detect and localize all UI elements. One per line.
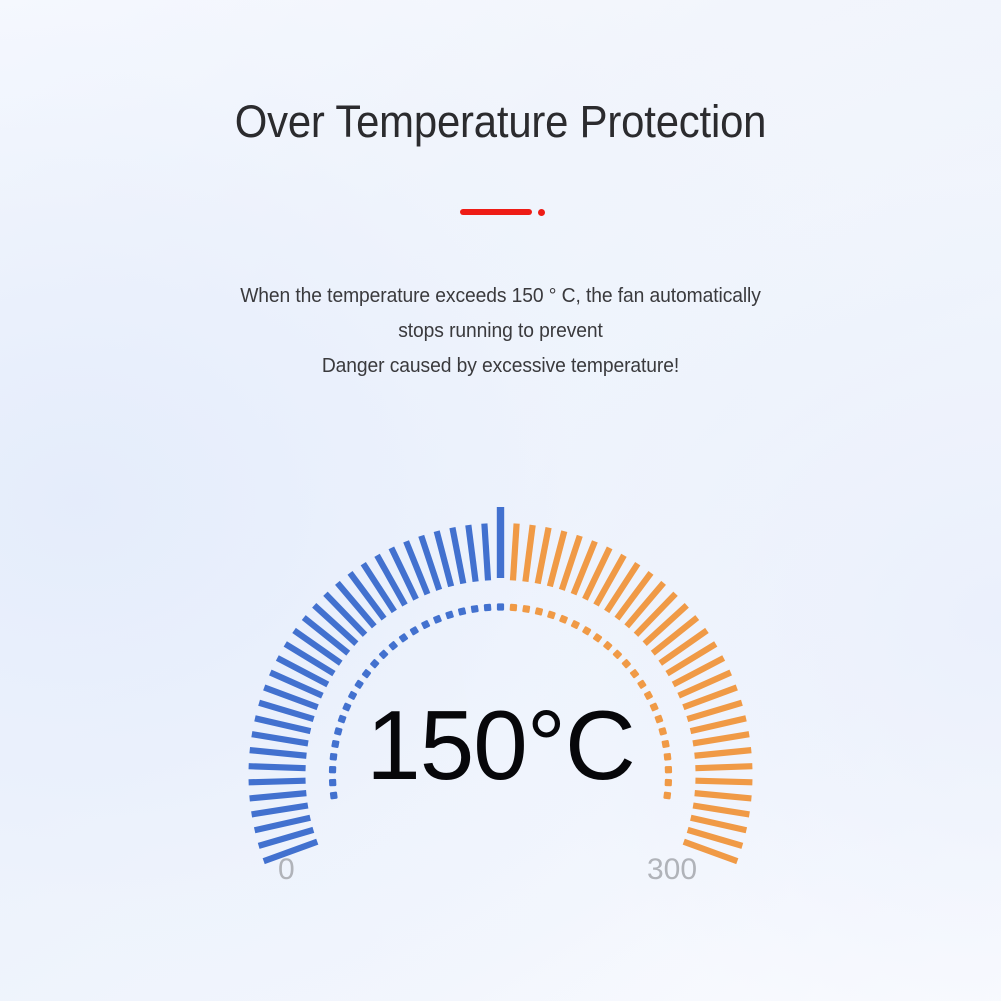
gauge-inner-dot-cold — [388, 641, 398, 651]
gauge-tick-cold — [484, 524, 488, 581]
temperature-gauge: 150°C 0 300 — [0, 400, 1001, 1001]
gauge-tick-hot — [627, 583, 664, 626]
gauge-inner-dot-hot — [637, 679, 647, 689]
gauge-inner-dot-hot — [592, 633, 602, 643]
gauge-tick-cold — [468, 525, 475, 582]
page-title: Over Temperature Protection — [35, 0, 966, 145]
description-line-3: Danger caused by excessive temperature! — [30, 348, 971, 383]
gauge-tick-hot — [645, 605, 687, 643]
gauge-tick-cold — [363, 564, 394, 612]
gauge-tick-cold — [304, 618, 349, 654]
gauge-inner-dot-hot — [582, 626, 592, 636]
gauge-inner-dot-cold — [398, 633, 408, 643]
gauge-inner-dot-cold — [445, 610, 454, 619]
description-block: When the temperature exceeds 150 ° C, th… — [0, 278, 1001, 383]
gauge-tick-cold — [252, 806, 308, 815]
divider-bar-icon — [460, 209, 532, 215]
gauge-tick-hot — [691, 818, 747, 831]
header: Over Temperature Protection — [0, 0, 1001, 145]
gauge-inner-dot-hot — [522, 605, 530, 613]
gauge-inner-dot-cold — [354, 679, 364, 689]
gauge-inner-dot-hot — [547, 610, 556, 619]
gauge-readout: 150°C — [0, 696, 1001, 794]
gauge-tick-cold — [314, 605, 356, 643]
gauge-inner-dot-cold — [484, 604, 492, 612]
gauge-inner-dot-hot — [621, 659, 631, 669]
gauge-tick-hot — [660, 630, 707, 663]
title-divider — [0, 205, 1001, 221]
page-root: Over Temperature Protection When the tem… — [0, 0, 1001, 1001]
gauge-tick-hot — [550, 531, 564, 586]
gauge-tick-group — [249, 507, 753, 861]
gauge-tick-hot — [617, 573, 651, 619]
gauge-inner-dot-cold — [471, 605, 479, 613]
gauge-inner-dot-hot — [535, 607, 544, 616]
gauge-tick-cold — [350, 573, 384, 619]
gauge-tick-hot — [653, 618, 698, 654]
gauge-inner-dot-hot — [629, 669, 639, 679]
divider-dot-icon — [538, 209, 545, 216]
gauge-min-label: 0 — [278, 855, 295, 885]
gauge-inner-dot-hot — [571, 620, 581, 630]
gauge-inner-dot-cold — [409, 626, 419, 636]
gauge-tick-cold — [325, 594, 365, 635]
gauge-tick-cold — [337, 583, 374, 626]
gauge-tick-cold — [452, 528, 463, 584]
gauge-tick-hot — [538, 528, 549, 584]
gauge-inner-dot-hot — [559, 615, 568, 624]
gauge-tick-hot — [693, 806, 749, 815]
gauge-tick-cold — [294, 630, 341, 663]
gauge-inner-dot-cold — [379, 649, 389, 659]
gauge-tick-cold — [437, 531, 451, 586]
gauge-tick-hot — [607, 564, 638, 612]
gauge-inner-dot-cold — [433, 615, 442, 624]
description-line-2: stops running to prevent — [30, 313, 971, 348]
gauge-inner-dot-cold — [421, 620, 431, 630]
description-line-1: When the temperature exceeds 150 ° C, th… — [30, 278, 971, 313]
gauge-inner-dot-cold — [361, 669, 371, 679]
gauge-inner-dot-hot — [603, 641, 613, 651]
gauge-inner-dot-hot — [612, 649, 622, 659]
gauge-max-label: 300 — [647, 855, 697, 885]
gauge-tick-hot — [525, 525, 532, 582]
gauge-inner-dot-cold — [458, 607, 467, 616]
gauge-inner-dot-cold — [497, 603, 504, 610]
gauge-tick-hot — [636, 594, 676, 635]
gauge-inner-dot-cold — [370, 659, 380, 669]
gauge-inner-dot-hot — [510, 604, 518, 612]
gauge-tick-hot — [513, 524, 517, 581]
gauge-tick-cold — [255, 818, 311, 831]
